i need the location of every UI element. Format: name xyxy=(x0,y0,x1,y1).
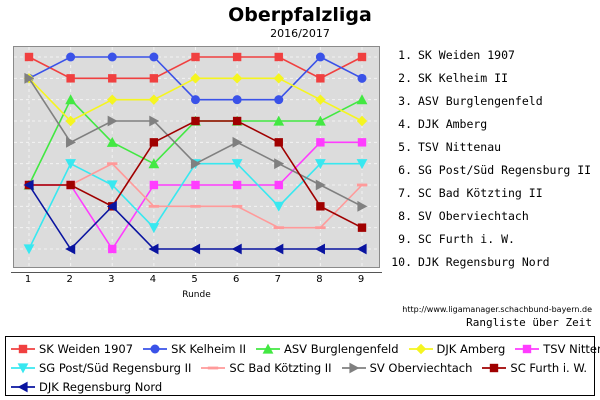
x-tick-label: 8 xyxy=(309,274,329,285)
ranking-item-2: 2.SK Kelheim II xyxy=(386,71,600,94)
legend-label: SK Weiden 1907 xyxy=(39,342,133,356)
hline-marker-icon xyxy=(274,226,284,229)
ranking-item-7: 7.SC Bad Kötzting II xyxy=(386,186,600,209)
x-tick-label: 7 xyxy=(268,274,288,285)
diamond-marker-icon xyxy=(149,94,159,104)
ranking-item-number: 1. xyxy=(386,48,412,62)
square-marker-icon xyxy=(233,53,241,61)
legend-entry[interactable]: SC Bad Kötzting II xyxy=(200,361,331,375)
square-marker-icon xyxy=(150,138,158,146)
legend-label: ASV Burglengenfeld xyxy=(284,342,399,356)
square-marker-icon xyxy=(358,223,366,231)
legend-entry[interactable]: DJK Regensburg Nord xyxy=(10,380,162,394)
ranking-item-6: 6.SG Post/Süd Regensburg II xyxy=(386,163,600,186)
legend-marker-triangle-up-icon xyxy=(255,342,281,356)
hline-marker-icon xyxy=(208,366,218,369)
legend-entry[interactable]: SK Kelheim II xyxy=(142,342,246,356)
ranking-item-number: 4. xyxy=(386,117,412,131)
legend-label: SC Bad Kötzting II xyxy=(229,361,331,375)
ranking-item-number: 9. xyxy=(386,232,412,246)
x-tick-label: 4 xyxy=(143,274,163,285)
legend-marker-triangle-left-icon xyxy=(10,380,36,394)
square-marker-icon xyxy=(66,181,74,189)
ranking-item-1: 1.SK Weiden 1907 xyxy=(386,48,600,71)
ranking-item-label: SC Bad Kötzting II xyxy=(418,186,543,200)
legend-label: TSV Nittenau xyxy=(543,342,600,356)
series-7 xyxy=(24,162,367,229)
legend-marker-square-icon xyxy=(10,342,36,356)
circle-marker-icon xyxy=(108,53,117,62)
circle-marker-icon xyxy=(149,53,158,62)
ranking-item-3: 3.ASV Burglengenfeld xyxy=(386,94,600,117)
circle-marker-icon xyxy=(358,74,367,83)
triangle-right-marker-icon xyxy=(108,116,118,127)
legend-entry[interactable]: DJK Amberg xyxy=(408,342,506,356)
square-marker-icon xyxy=(523,344,531,352)
diamond-marker-icon xyxy=(190,73,200,83)
legend-label: SV Oberviechtach xyxy=(370,361,473,375)
ranking-list: 1.SK Weiden 19072.SK Kelheim II3.ASV Bur… xyxy=(386,48,600,278)
legend-entry[interactable]: SG Post/Süd Regensburg II xyxy=(10,361,191,375)
ranking-item-8: 8.SV Oberviechtach xyxy=(386,209,600,232)
x-axis-title: Runde xyxy=(13,290,380,300)
diamond-marker-icon xyxy=(315,94,325,104)
square-marker-icon xyxy=(150,74,158,82)
triangle-left-marker-icon xyxy=(18,381,28,392)
square-marker-icon xyxy=(316,74,324,82)
ranking-item-number: 8. xyxy=(386,209,412,223)
legend-label: DJK Regensburg Nord xyxy=(39,380,162,394)
legend-entry[interactable]: SK Weiden 1907 xyxy=(10,342,133,356)
ranking-item-number: 10. xyxy=(386,255,412,269)
ranking-item-label: TSV Nittenau xyxy=(418,140,501,154)
legend-marker-triangle-right-icon xyxy=(341,361,367,375)
ranking-item-label: SK Weiden 1907 xyxy=(418,48,515,62)
hline-marker-icon xyxy=(107,162,117,165)
ranking-item-5: 5.TSV Nittenau xyxy=(386,140,600,163)
ranking-item-4: 4.DJK Amberg xyxy=(386,117,600,140)
legend-row-2: SG Post/Süd Regensburg IISC Bad Kötzting… xyxy=(10,358,590,377)
square-marker-icon xyxy=(108,245,116,253)
ranking-item-label: SG Post/Süd Regensburg II xyxy=(418,163,591,177)
square-marker-icon xyxy=(275,138,283,146)
square-marker-icon xyxy=(358,138,366,146)
x-tick-label: 1 xyxy=(18,274,38,285)
chart-page: Oberpfalzliga 2016/2017 123456789 Runde … xyxy=(0,0,600,400)
ranking-item-10: 10.DJK Regensburg Nord xyxy=(386,255,600,278)
square-marker-icon xyxy=(358,53,366,61)
legend-marker-diamond-icon xyxy=(408,342,434,356)
square-marker-icon xyxy=(490,363,498,371)
diamond-marker-icon xyxy=(357,116,367,126)
legend-marker-square-icon xyxy=(514,342,540,356)
legend-entry[interactable]: SV Oberviechtach xyxy=(341,361,473,375)
x-axis-line xyxy=(11,272,382,273)
ranking-item-label: SV Oberviechtach xyxy=(418,209,529,223)
square-marker-icon xyxy=(316,138,324,146)
square-marker-icon xyxy=(66,74,74,82)
triangle-right-marker-icon xyxy=(349,362,359,373)
square-marker-icon xyxy=(150,181,158,189)
legend-label: SK Kelheim II xyxy=(171,342,246,356)
x-tick-label: 5 xyxy=(185,274,205,285)
circle-marker-icon xyxy=(233,95,242,104)
square-marker-icon xyxy=(233,117,241,125)
legend-marker-hline-icon xyxy=(200,361,226,375)
ranking-item-label: DJK Regensburg Nord xyxy=(418,255,550,269)
legend-entry[interactable]: ASV Burglengenfeld xyxy=(255,342,399,356)
x-tick-label: 3 xyxy=(101,274,121,285)
page-subtitle: 2016/2017 xyxy=(0,27,600,40)
diamond-marker-icon xyxy=(107,94,117,104)
circle-marker-icon xyxy=(191,95,200,104)
legend-entry[interactable]: TSV Nittenau xyxy=(514,342,600,356)
circle-marker-icon xyxy=(66,53,75,62)
plot-area xyxy=(13,46,380,268)
hline-marker-icon xyxy=(232,205,242,208)
square-marker-icon xyxy=(233,181,241,189)
legend-label: SG Post/Süd Regensburg II xyxy=(39,361,191,375)
ranking-item-9: 9.SC Furth i. W. xyxy=(386,232,600,255)
square-marker-icon xyxy=(316,202,324,210)
ranking-item-label: DJK Amberg xyxy=(418,117,487,131)
legend-marker-circle-icon xyxy=(142,342,168,356)
legend-marker-square-icon xyxy=(481,361,507,375)
square-marker-icon xyxy=(275,181,283,189)
ranking-item-number: 2. xyxy=(386,71,412,85)
circle-marker-icon xyxy=(151,344,160,353)
diamond-marker-icon xyxy=(232,73,242,83)
ranking-item-number: 3. xyxy=(386,94,412,108)
ranking-item-label: SC Furth i. W. xyxy=(418,232,515,246)
ranking-item-label: ASV Burglengenfeld xyxy=(418,94,543,108)
hline-marker-icon xyxy=(149,205,159,208)
page-title: Oberpfalzliga xyxy=(0,4,600,26)
ranking-item-number: 7. xyxy=(386,186,412,200)
hline-marker-icon xyxy=(357,184,367,187)
ranking-item-number: 5. xyxy=(386,140,412,154)
circle-marker-icon xyxy=(316,53,325,62)
square-marker-icon xyxy=(275,53,283,61)
source-url: http://www.ligamanager.schachbund-bayern… xyxy=(402,305,592,314)
legend-label: DJK Amberg xyxy=(437,342,506,356)
square-marker-icon xyxy=(25,53,33,61)
ranking-item-number: 6. xyxy=(386,163,412,177)
x-tick-label: 2 xyxy=(60,274,80,285)
ranking-item-label: SK Kelheim II xyxy=(418,71,508,85)
hline-marker-icon xyxy=(190,205,200,208)
diamond-marker-icon xyxy=(415,343,425,353)
legend-entry[interactable]: SC Furth i. W. xyxy=(481,361,587,375)
square-marker-icon xyxy=(108,74,116,82)
diamond-marker-icon xyxy=(274,73,284,83)
legend: SK Weiden 1907SK Kelheim IIASV Burglenge… xyxy=(5,336,595,396)
square-marker-icon xyxy=(191,53,199,61)
legend-marker-triangle-down-icon xyxy=(10,361,36,375)
square-marker-icon xyxy=(191,117,199,125)
x-tick-label: 9 xyxy=(351,274,371,285)
circle-marker-icon xyxy=(274,95,283,104)
triangle-down-marker-icon xyxy=(148,223,159,233)
legend-label: SC Furth i. W. xyxy=(510,361,587,375)
chart-caption: Rangliste über Zeit xyxy=(466,316,592,329)
square-marker-icon xyxy=(19,344,27,352)
square-marker-icon xyxy=(191,181,199,189)
series-canvas xyxy=(14,47,379,267)
legend-row-3: DJK Regensburg Nord xyxy=(10,377,590,396)
x-tick-label: 6 xyxy=(226,274,246,285)
legend-row-1: SK Weiden 1907SK Kelheim IIASV Burglenge… xyxy=(10,339,590,358)
hline-marker-icon xyxy=(315,226,325,229)
